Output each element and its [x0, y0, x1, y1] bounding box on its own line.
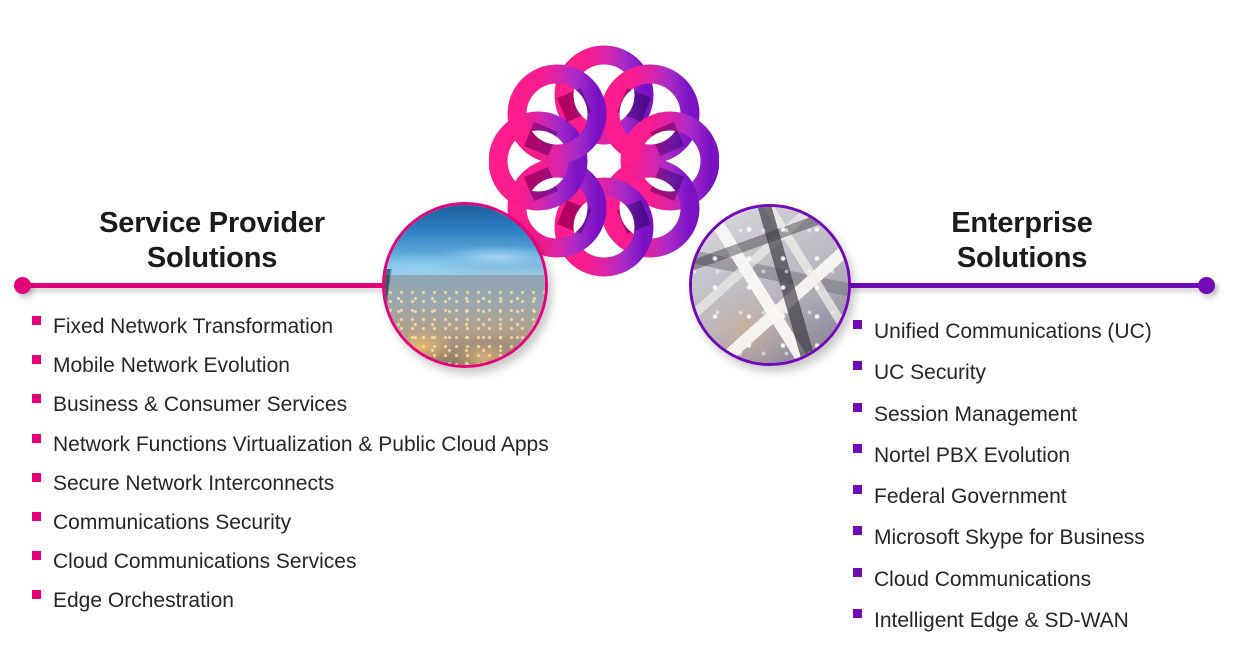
- list-item[interactable]: Edge Orchestration: [32, 581, 549, 620]
- list-item[interactable]: Fixed Network Transformation: [32, 307, 549, 346]
- bullet-square-icon: [853, 403, 862, 412]
- list-item[interactable]: Unified Communications (UC): [853, 311, 1152, 352]
- list-item-label: Network Functions Virtualization & Publi…: [32, 425, 549, 464]
- bullet-square-icon: [32, 551, 41, 560]
- bullet-square-icon: [853, 609, 862, 618]
- list-item-label: Mobile Network Evolution: [32, 346, 290, 385]
- list-item-label: Communications Security: [32, 503, 291, 542]
- list-item[interactable]: Secure Network Interconnects: [32, 464, 549, 503]
- list-item-label: Unified Communications (UC): [853, 311, 1152, 352]
- list-item-label: Intelligent Edge & SD-WAN: [853, 600, 1129, 641]
- enterprise-endpoint-dot: [1198, 277, 1215, 294]
- bullet-square-icon: [32, 512, 41, 521]
- list-item-label: Business & Consumer Services: [32, 385, 347, 424]
- bullet-square-icon: [853, 320, 862, 329]
- list-item[interactable]: Session Management: [853, 394, 1152, 435]
- list-item-label: Session Management: [853, 394, 1077, 435]
- enterprise-heading: Enterprise Solutions: [862, 206, 1182, 276]
- list-item-label: Cloud Communications: [853, 559, 1091, 600]
- bullet-square-icon: [32, 590, 41, 599]
- list-item-label: Secure Network Interconnects: [32, 464, 334, 503]
- list-item-label: Microsoft Skype for Business: [853, 517, 1145, 558]
- bullet-square-icon: [32, 434, 41, 443]
- list-item[interactable]: Mobile Network Evolution: [32, 346, 549, 385]
- list-item[interactable]: Intelligent Edge & SD-WAN: [853, 600, 1152, 641]
- list-item[interactable]: UC Security: [853, 352, 1152, 393]
- list-item-label: Fixed Network Transformation: [32, 307, 333, 346]
- list-item[interactable]: Cloud Communications: [853, 559, 1152, 600]
- list-item[interactable]: Cloud Communications Services: [32, 542, 549, 581]
- bullet-square-icon: [32, 316, 41, 325]
- service-provider-endpoint-dot: [14, 277, 31, 294]
- list-item-label: Nortel PBX Evolution: [853, 435, 1070, 476]
- list-item-label: Federal Government: [853, 476, 1067, 517]
- list-item-label: UC Security: [853, 352, 986, 393]
- solutions-overview-slide: Service Provider Solutions Fixed Network…: [0, 0, 1234, 659]
- list-item-label: Edge Orchestration: [32, 581, 234, 620]
- service-provider-solutions-list: Fixed Network Transformation Mobile Netw…: [32, 307, 549, 621]
- list-item[interactable]: Nortel PBX Evolution: [853, 435, 1152, 476]
- bullet-square-icon: [853, 444, 862, 453]
- bullet-square-icon: [853, 526, 862, 535]
- highway-interchange-photo: [689, 204, 851, 366]
- list-item-label: Cloud Communications Services: [32, 542, 356, 581]
- city-sky-layer: [385, 205, 545, 279]
- highway-photo-inner: [692, 207, 848, 363]
- bullet-square-icon: [32, 394, 41, 403]
- highway-lights-layer: [692, 207, 848, 363]
- list-item[interactable]: Federal Government: [853, 476, 1152, 517]
- service-provider-timeline-rule: [20, 283, 388, 288]
- list-item[interactable]: Network Functions Virtualization & Publi…: [32, 425, 549, 464]
- list-item[interactable]: Business & Consumer Services: [32, 385, 549, 424]
- enterprise-solutions-list: Unified Communications (UC) UC Security …: [853, 311, 1152, 641]
- list-item[interactable]: Communications Security: [32, 503, 549, 542]
- bullet-square-icon: [853, 361, 862, 370]
- bullet-square-icon: [853, 485, 862, 494]
- bullet-square-icon: [32, 473, 41, 482]
- bullet-square-icon: [853, 568, 862, 577]
- list-item[interactable]: Microsoft Skype for Business: [853, 517, 1152, 558]
- bullet-square-icon: [32, 355, 41, 364]
- enterprise-timeline-rule: [846, 283, 1214, 288]
- service-provider-heading: Service Provider Solutions: [52, 206, 372, 276]
